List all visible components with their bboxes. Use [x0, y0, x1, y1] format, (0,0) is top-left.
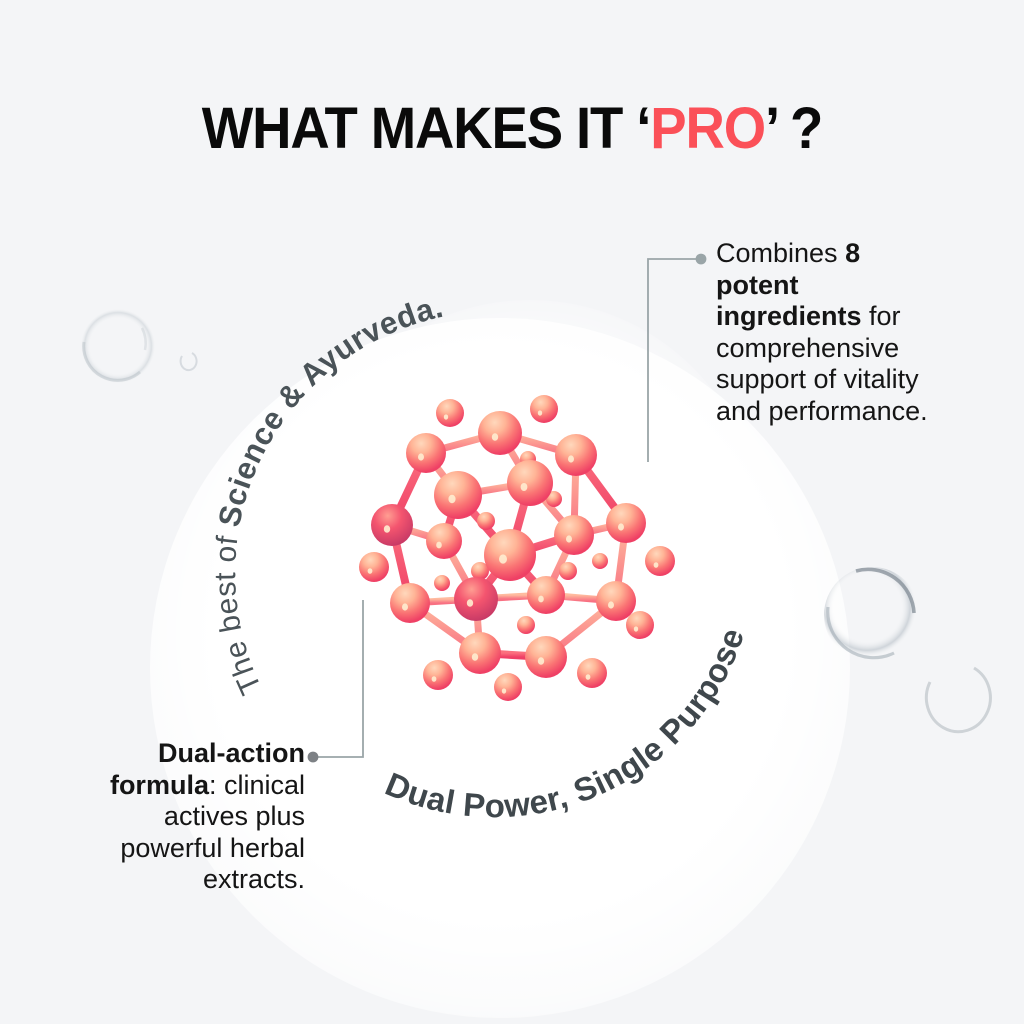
headline-part1: WHAT MAKES IT	[202, 96, 636, 161]
molecule-illustration	[330, 375, 695, 720]
headline-accent-pro: PRO	[650, 96, 765, 161]
leader-dot-right	[696, 254, 707, 265]
combines-ingredients-segment-0: Combines	[716, 238, 845, 268]
callout-dual-action-formula: Dual-action formula: clinical actives pl…	[55, 738, 305, 896]
leader-dot-left	[308, 752, 319, 763]
callout-combines-ingredients: Combines 8 potent ingredients for compre…	[716, 238, 946, 427]
water-droplet-icon	[900, 630, 1020, 760]
headline-part2: ?	[776, 96, 822, 161]
page-title: WHAT MAKES IT ‘PRO’ ?	[31, 100, 994, 158]
headline-quote-open: ‘	[636, 96, 650, 161]
headline-quote-close: ’	[765, 96, 776, 161]
water-droplet-icon	[800, 545, 960, 705]
infographic-canvas: The best of Science & Ayurveda. Dual Pow…	[0, 0, 1024, 1024]
arc-top-regular: The best of	[209, 524, 268, 699]
water-droplet-icon	[60, 290, 180, 410]
water-droplet-icon	[168, 340, 208, 380]
